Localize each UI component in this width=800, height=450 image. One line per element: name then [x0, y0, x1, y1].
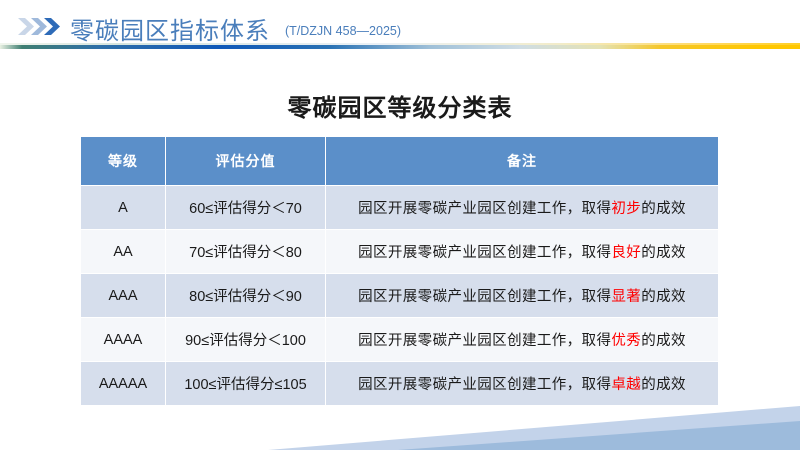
remark-prefix: 园区开展零碳产业园区创建工作，取得 — [358, 245, 611, 261]
cell-remark: 园区开展零碳产业园区创建工作，取得良好的成效 — [326, 230, 719, 274]
cell-score-range: 70≤评估得分＜80 — [166, 230, 326, 274]
table-row: AAAAA100≤评估得分≤105园区开展零碳产业园区创建工作，取得卓越的成效 — [81, 362, 719, 406]
remark-suffix: 的成效 — [641, 377, 686, 393]
table-body: A60≤评估得分＜70园区开展零碳产业园区创建工作，取得初步的成效AA70≤评估… — [81, 186, 719, 406]
remark-prefix: 园区开展零碳产业园区创建工作，取得 — [358, 201, 611, 217]
remark-prefix: 园区开展零碳产业园区创建工作，取得 — [358, 333, 611, 349]
cell-grade: AAAA — [81, 318, 166, 362]
remark-suffix: 的成效 — [641, 245, 686, 261]
column-header-remark: 备注 — [326, 137, 719, 186]
grade-classification-table: 等级 评估分值 备注 A60≤评估得分＜70园区开展零碳产业园区创建工作，取得初… — [80, 136, 719, 406]
remark-suffix: 的成效 — [641, 201, 686, 217]
page-title: 零碳园区指标体系 — [70, 11, 270, 46]
decoration-wedge-back — [268, 406, 800, 450]
cell-grade: AAA — [81, 274, 166, 318]
table-row: A60≤评估得分＜70园区开展零碳产业园区创建工作，取得初步的成效 — [81, 186, 719, 230]
remark-highlight: 优秀 — [611, 333, 641, 349]
remark-highlight: 良好 — [611, 245, 641, 261]
table-header-row: 等级 评估分值 备注 — [81, 137, 719, 186]
cell-grade: AA — [81, 230, 166, 274]
slide-header: 零碳园区指标体系 (T/DZJN 458—2025) — [0, 0, 800, 52]
column-header-score: 评估分值 — [166, 137, 326, 186]
standard-code: (T/DZJN 458—2025) — [285, 24, 401, 38]
cell-remark: 园区开展零碳产业园区创建工作，取得初步的成效 — [326, 186, 719, 230]
remark-highlight: 初步 — [611, 201, 641, 217]
cell-grade: A — [81, 186, 166, 230]
remark-highlight: 卓越 — [611, 377, 641, 393]
remark-suffix: 的成效 — [641, 289, 686, 305]
remark-prefix: 园区开展零碳产业园区创建工作，取得 — [358, 289, 611, 305]
header-divider — [0, 45, 800, 49]
cell-score-range: 100≤评估得分≤105 — [166, 362, 326, 406]
remark-highlight: 显著 — [611, 289, 641, 305]
table-row: AAA80≤评估得分＜90园区开展零碳产业园区创建工作，取得显著的成效 — [81, 274, 719, 318]
column-header-grade: 等级 — [81, 137, 166, 186]
cell-score-range: 80≤评估得分＜90 — [166, 274, 326, 318]
decoration-wedge-front — [398, 421, 800, 450]
cell-remark: 园区开展零碳产业园区创建工作，取得卓越的成效 — [326, 362, 719, 406]
table-row: AA70≤评估得分＜80园区开展零碳产业园区创建工作，取得良好的成效 — [81, 230, 719, 274]
remark-prefix: 园区开展零碳产业园区创建工作，取得 — [358, 377, 611, 393]
cell-score-range: 90≤评估得分＜100 — [166, 318, 326, 362]
cell-grade: AAAAA — [81, 362, 166, 406]
remark-suffix: 的成效 — [641, 333, 686, 349]
table-title: 零碳园区等级分类表 — [0, 88, 800, 123]
double-chevron-right-icon — [18, 17, 66, 36]
cell-remark: 园区开展零碳产业园区创建工作，取得优秀的成效 — [326, 318, 719, 362]
cell-remark: 园区开展零碳产业园区创建工作，取得显著的成效 — [326, 274, 719, 318]
table-row: AAAA90≤评估得分＜100园区开展零碳产业园区创建工作，取得优秀的成效 — [81, 318, 719, 362]
cell-score-range: 60≤评估得分＜70 — [166, 186, 326, 230]
